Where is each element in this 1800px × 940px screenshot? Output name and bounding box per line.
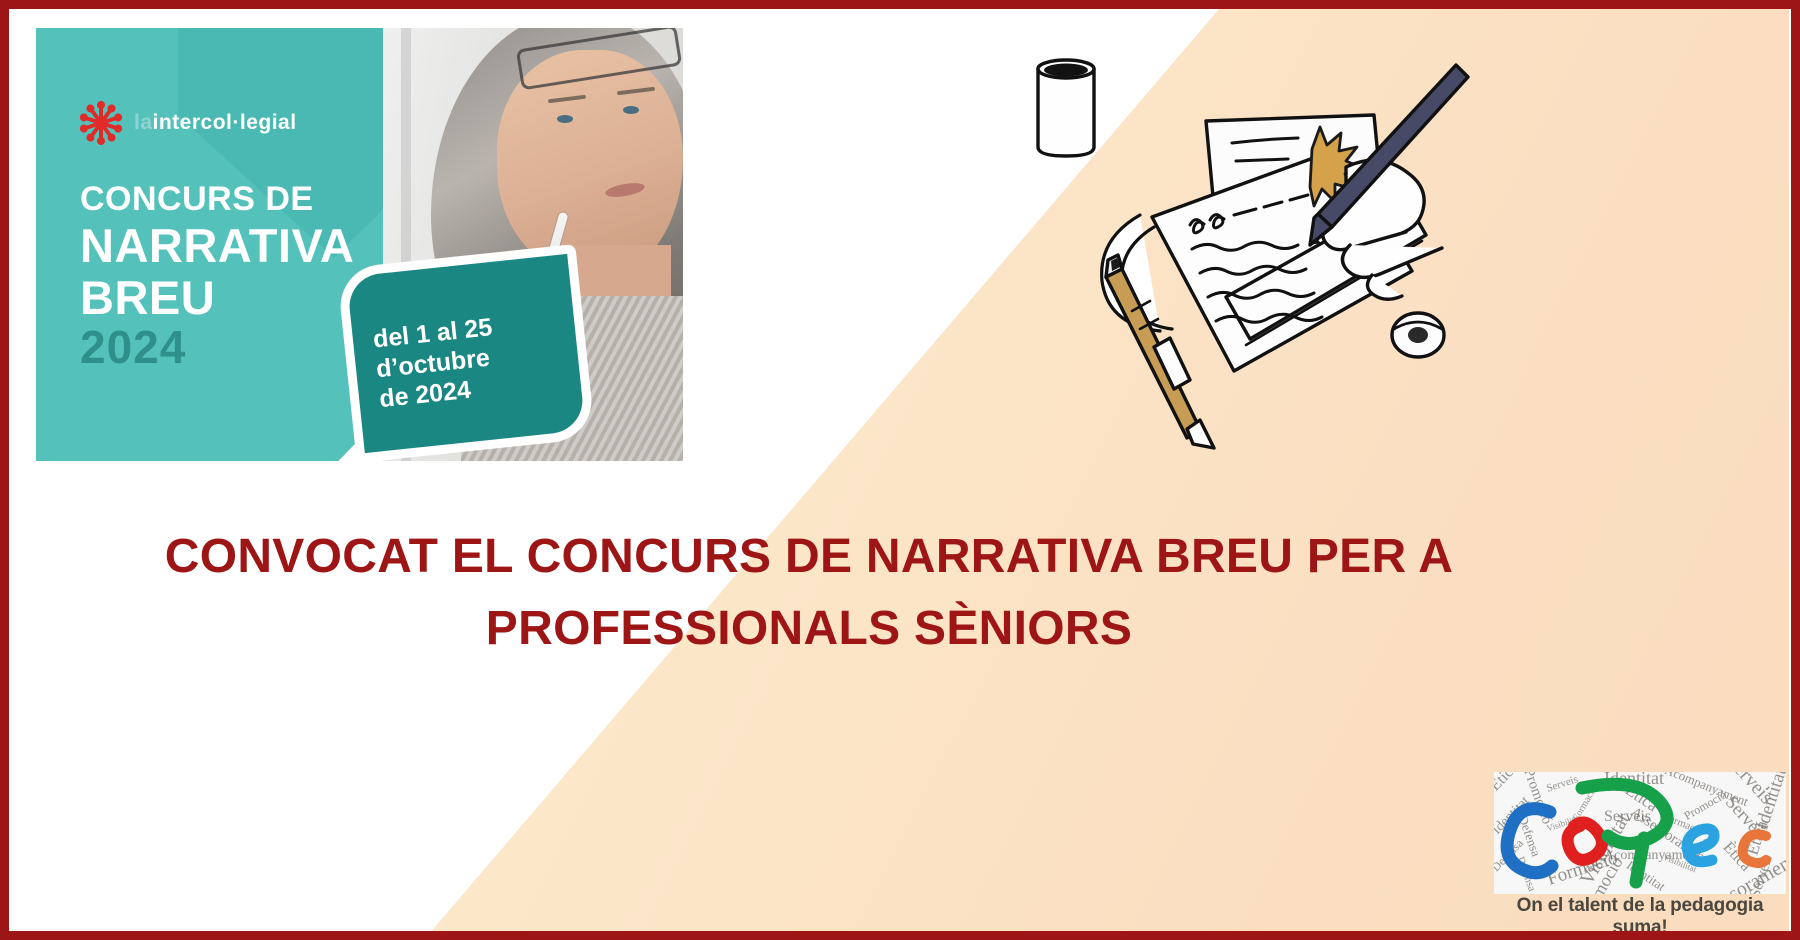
poster-title-line-1: CONCURS DE xyxy=(80,180,314,219)
copec-letter-c-orange xyxy=(1743,834,1766,863)
intercollegial-logo: laintercol·legial xyxy=(80,102,297,144)
promo-banner: laintercol·legial CONCURS DE NARRATIVABR… xyxy=(0,0,1800,940)
copec-letter-e-lightblue xyxy=(1687,829,1714,862)
headline-line-1: CONVOCAT EL CONCURS DE NARRATIVA BREU PE… xyxy=(165,530,1454,583)
asterisk-burst-icon xyxy=(80,102,122,144)
headline-line-2: PROFESSIONALS SÈNIORS xyxy=(486,602,1132,655)
hand-writing-illustration xyxy=(994,39,1464,439)
poster-title-line-2: NARRATIVABREU xyxy=(80,220,354,324)
copec-letter-c-blue xyxy=(1507,809,1552,873)
logo-prefix: la xyxy=(134,111,153,134)
copec-tagline: On el talent de la pedagogia suma! xyxy=(1494,895,1786,939)
copec-letter-o-red xyxy=(1568,822,1602,859)
coffee-mug-icon xyxy=(1038,60,1094,156)
contest-poster: laintercol·legial CONCURS DE NARRATIVABR… xyxy=(28,28,683,461)
photo-eye-left xyxy=(557,115,573,123)
logo-name: intercol·legial xyxy=(153,111,297,134)
poster-year: 2024 xyxy=(80,320,186,374)
photo-eye-right xyxy=(623,106,639,114)
intercollegial-logo-text: laintercol·legial xyxy=(134,111,297,135)
poster-title-breu: BREU xyxy=(80,271,215,324)
poster-title-narrativa: NARRATIVA xyxy=(80,219,354,272)
ink-bottle-icon xyxy=(1392,313,1444,357)
copec-wordmark xyxy=(1494,772,1786,894)
page-title: CONVOCAT EL CONCURS DE NARRATIVA BREU PE… xyxy=(99,521,1519,665)
copec-logo: ÈticaServeisIdentitatAcompanyamentServei… xyxy=(1486,772,1793,934)
